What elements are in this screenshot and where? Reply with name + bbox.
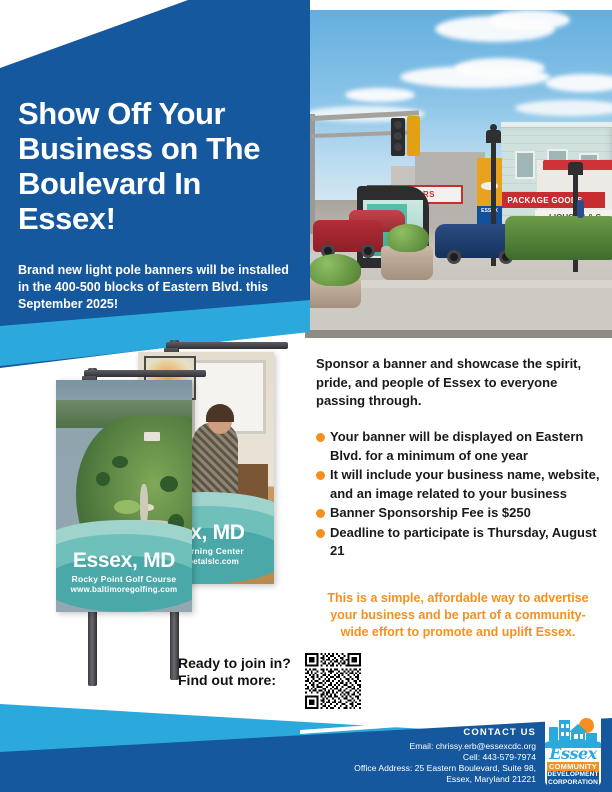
planter-shrub: [309, 254, 361, 286]
banner-1-text: Essex, MD Rocky Point Golf Course www.ba…: [56, 550, 192, 612]
hero-subcopy: Brand new light pole banners will be ins…: [18, 262, 290, 313]
call-to-action-note: This is a simple, affordable way to adve…: [322, 590, 594, 641]
eastern-blvd-street-photo: LIQUORS PACKAGE GOODS LIQUORS & S ESSEX: [305, 10, 612, 338]
contact-email[interactable]: Email: chrissy.erb@essexcdc.org: [354, 741, 536, 752]
pedestrian: [577, 200, 584, 218]
traffic-light-yellow-housing: [407, 116, 420, 156]
banner-mockup-1: Essex, MD Rocky Point Golf Course www.ba…: [56, 380, 192, 612]
banner-1-url: www.baltimoregolfing.com: [56, 585, 192, 594]
putting-green: [114, 500, 140, 514]
banner-crossbar: [166, 342, 288, 349]
window: [515, 151, 535, 179]
list-item: Banner Sponsorship Fee is $250: [316, 504, 606, 523]
list-item: Deadline to participate is Thursday, Aug…: [316, 524, 606, 561]
qr-code[interactable]: [305, 653, 361, 709]
clubhouse: [144, 432, 160, 441]
package-goods-sign: PACKAGE GOODS: [485, 192, 605, 208]
street-lamp-head: [486, 130, 501, 143]
logo-wordmark: Essex: [545, 744, 601, 761]
logo-line-development: DEVELOPMENT: [547, 771, 599, 779]
planter-shrub: [387, 224, 429, 252]
list-item: Your banner will be displayed on Eastern…: [316, 428, 606, 465]
benefits-list: Your banner will be displayed on Eastern…: [316, 428, 606, 562]
logo-illustration: [545, 714, 601, 747]
contact-block: CONTACT US Email: chrissy.erb@essexcdc.o…: [354, 727, 536, 785]
banner-1-title: Essex, MD: [56, 550, 192, 572]
bullet-dot-icon: [316, 504, 330, 523]
hedge: [505, 216, 612, 260]
sponsor-intro-paragraph: Sponsor a banner and showcase the spirit…: [316, 355, 598, 411]
list-item: It will include your business name, webs…: [316, 466, 606, 503]
logo-line-community: COMMUNITY: [547, 762, 599, 771]
light-pole-banner-mockup: sex, MD s Learning Center ww.petalslc.co…: [40, 340, 290, 690]
tree: [160, 476, 178, 492]
contact-title: CONTACT US: [354, 727, 536, 738]
qr-code-graphic[interactable]: [305, 653, 361, 709]
bullet-dot-icon: [316, 524, 330, 561]
bullet-dot-icon: [316, 428, 330, 465]
essex-cdc-logo: Essex COMMUNITY DEVELOPMENT CORPORATION: [545, 714, 601, 786]
page-title: Show Off Your Business on The Boulevard …: [18, 96, 304, 236]
list-item-label: Your banner will be displayed on Eastern…: [330, 428, 606, 465]
banner-crossbar: [84, 370, 206, 377]
cloud: [490, 10, 570, 30]
contact-phone[interactable]: Cell: 443-579-7974: [354, 752, 536, 763]
parked-car-red: [313, 220, 383, 252]
bullet-dot-icon: [316, 466, 330, 503]
tree: [112, 456, 128, 468]
cloud: [455, 58, 545, 78]
list-item-label: Banner Sponsorship Fee is $250: [330, 504, 531, 523]
street-lamp-finial: [490, 124, 497, 131]
traffic-light: [391, 118, 405, 156]
flyer-page: LIQUORS PACKAGE GOODS LIQUORS & S ESSEX: [0, 0, 612, 792]
logo-line-corporation: CORPORATION: [547, 779, 599, 786]
ready-to-join-text: Ready to join in? Find out more:: [178, 655, 308, 689]
tree: [96, 472, 110, 486]
banner-1-subtitle: Rocky Point Golf Course: [56, 574, 192, 584]
cloud: [345, 88, 415, 102]
contact-address-line-2: Essex, Maryland 21221: [354, 774, 536, 785]
list-item-label: It will include your business name, webs…: [330, 466, 606, 503]
street-lamp-head: [568, 162, 583, 175]
contact-address-line-1: Office Address: 25 Eastern Boulevard, Su…: [354, 763, 536, 774]
list-item-label: Deadline to participate is Thursday, Aug…: [330, 524, 606, 561]
